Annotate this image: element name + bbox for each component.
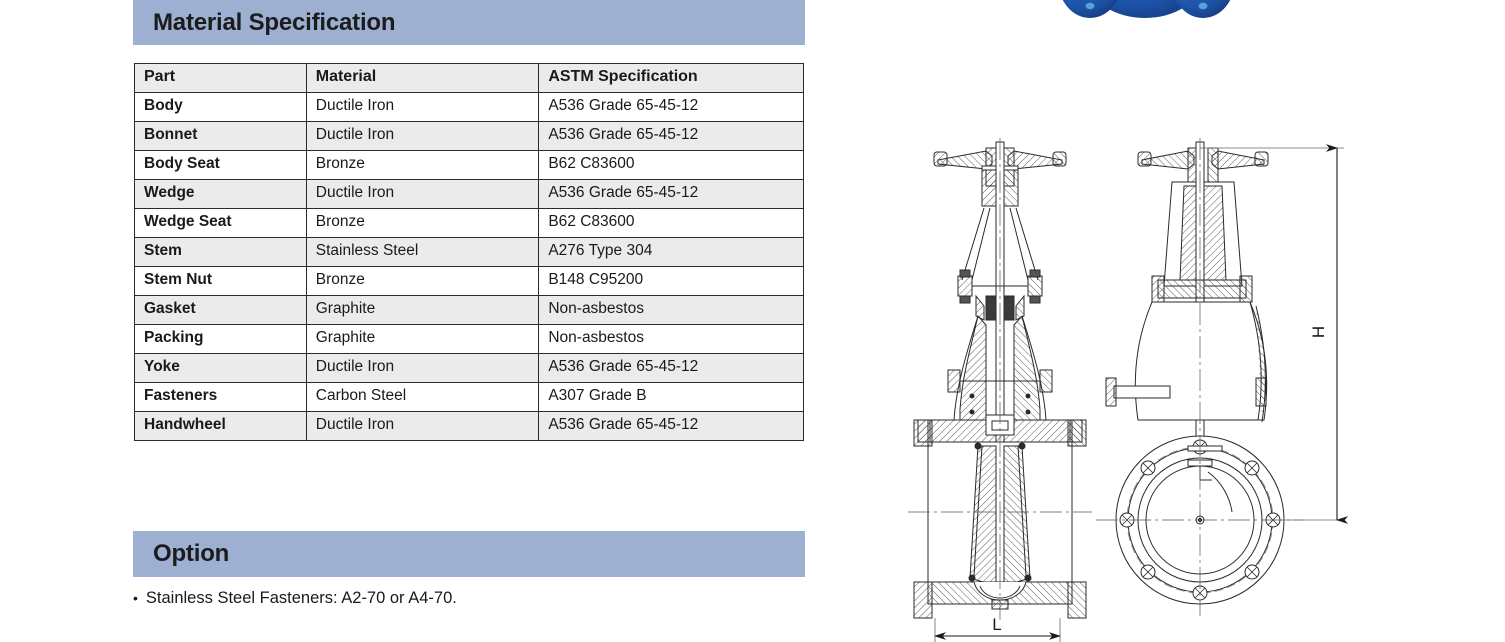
table-row: Bonnet Ductile Iron A536 Grade 65-45-12 bbox=[135, 122, 804, 151]
cell-material: Ductile Iron bbox=[306, 354, 539, 383]
dimension-label-l: L bbox=[992, 615, 1001, 634]
option-item-label: Stainless Steel Fasteners: A2-70 or A4-7… bbox=[146, 589, 457, 609]
list-item: • Stainless Steel Fasteners: A2-70 or A4… bbox=[133, 589, 457, 609]
cell-part: Gasket bbox=[135, 296, 307, 325]
column-header-material: Material bbox=[306, 64, 539, 93]
cell-material: Ductile Iron bbox=[306, 122, 539, 151]
option-header-bar: Option bbox=[133, 531, 805, 577]
cell-material: Stainless Steel bbox=[306, 238, 539, 267]
cell-part: Fasteners bbox=[135, 383, 307, 412]
cell-material: Graphite bbox=[306, 325, 539, 354]
cell-material: Graphite bbox=[306, 296, 539, 325]
table-row: Gasket Graphite Non-asbestos bbox=[135, 296, 804, 325]
cell-material: Ductile Iron bbox=[306, 93, 539, 122]
table-row: Body Ductile Iron A536 Grade 65-45-12 bbox=[135, 93, 804, 122]
cell-part: Bonnet bbox=[135, 122, 307, 151]
cell-part: Wedge bbox=[135, 180, 307, 209]
table-row: Fasteners Carbon Steel A307 Grade B bbox=[135, 383, 804, 412]
cell-astm: A536 Grade 65-45-12 bbox=[539, 354, 804, 383]
table-row: Handwheel Ductile Iron A536 Grade 65-45-… bbox=[135, 412, 804, 441]
column-header-part: Part bbox=[135, 64, 307, 93]
cell-material: Ductile Iron bbox=[306, 412, 539, 441]
table-row: Stem Nut Bronze B148 C95200 bbox=[135, 267, 804, 296]
table-row: Wedge Ductile Iron A536 Grade 65-45-12 bbox=[135, 180, 804, 209]
cell-part: Packing bbox=[135, 325, 307, 354]
product-photo bbox=[1045, 0, 1245, 30]
column-header-astm-specification: ASTM Specification bbox=[539, 64, 804, 93]
cell-astm: Non-asbestos bbox=[539, 325, 804, 354]
dimension-label-h: H bbox=[1309, 326, 1328, 338]
table-row: Body Seat Bronze B62 C83600 bbox=[135, 151, 804, 180]
cell-astm: A276 Type 304 bbox=[539, 238, 804, 267]
table-header-row: Part Material ASTM Specification bbox=[135, 64, 804, 93]
cell-material: Carbon Steel bbox=[306, 383, 539, 412]
cell-astm: A536 Grade 65-45-12 bbox=[539, 93, 804, 122]
cell-part: Yoke bbox=[135, 354, 307, 383]
bullet-icon: • bbox=[133, 589, 138, 608]
option-title: Option bbox=[153, 540, 229, 568]
cell-part: Stem Nut bbox=[135, 267, 307, 296]
material-specification-header-bar: Material Specification bbox=[133, 0, 805, 45]
cell-part: Body bbox=[135, 93, 307, 122]
table-row: Stem Stainless Steel A276 Type 304 bbox=[135, 238, 804, 267]
material-specification-table: Part Material ASTM Specification Body Du… bbox=[134, 63, 804, 441]
cell-part: Body Seat bbox=[135, 151, 307, 180]
cell-material: Bronze bbox=[306, 151, 539, 180]
cell-astm: A536 Grade 65-45-12 bbox=[539, 412, 804, 441]
material-specification-title: Material Specification bbox=[153, 9, 395, 37]
cell-astm: Non-asbestos bbox=[539, 296, 804, 325]
cell-part: Stem bbox=[135, 238, 307, 267]
cell-astm: B62 C83600 bbox=[539, 209, 804, 238]
table-row: Packing Graphite Non-asbestos bbox=[135, 325, 804, 354]
cell-material: Bronze bbox=[306, 209, 539, 238]
cell-astm: A536 Grade 65-45-12 bbox=[539, 180, 804, 209]
gate-valve-side-view bbox=[1096, 138, 1344, 616]
cell-astm: A307 Grade B bbox=[539, 383, 804, 412]
table-row: Yoke Ductile Iron A536 Grade 65-45-12 bbox=[135, 354, 804, 383]
cell-astm: B148 C95200 bbox=[539, 267, 804, 296]
option-list: • Stainless Steel Fasteners: A2-70 or A4… bbox=[133, 589, 457, 609]
table-row: Wedge Seat Bronze B62 C83600 bbox=[135, 209, 804, 238]
cell-astm: A536 Grade 65-45-12 bbox=[539, 122, 804, 151]
cell-part: Wedge Seat bbox=[135, 209, 307, 238]
cell-part: Handwheel bbox=[135, 412, 307, 441]
cell-astm: B62 C83600 bbox=[539, 151, 804, 180]
engineering-drawings: L H bbox=[900, 120, 1380, 642]
table-body: Body Ductile Iron A536 Grade 65-45-12 Bo… bbox=[135, 93, 804, 441]
gate-valve-front-view bbox=[908, 138, 1092, 642]
cell-material: Bronze bbox=[306, 267, 539, 296]
cell-material: Ductile Iron bbox=[306, 180, 539, 209]
